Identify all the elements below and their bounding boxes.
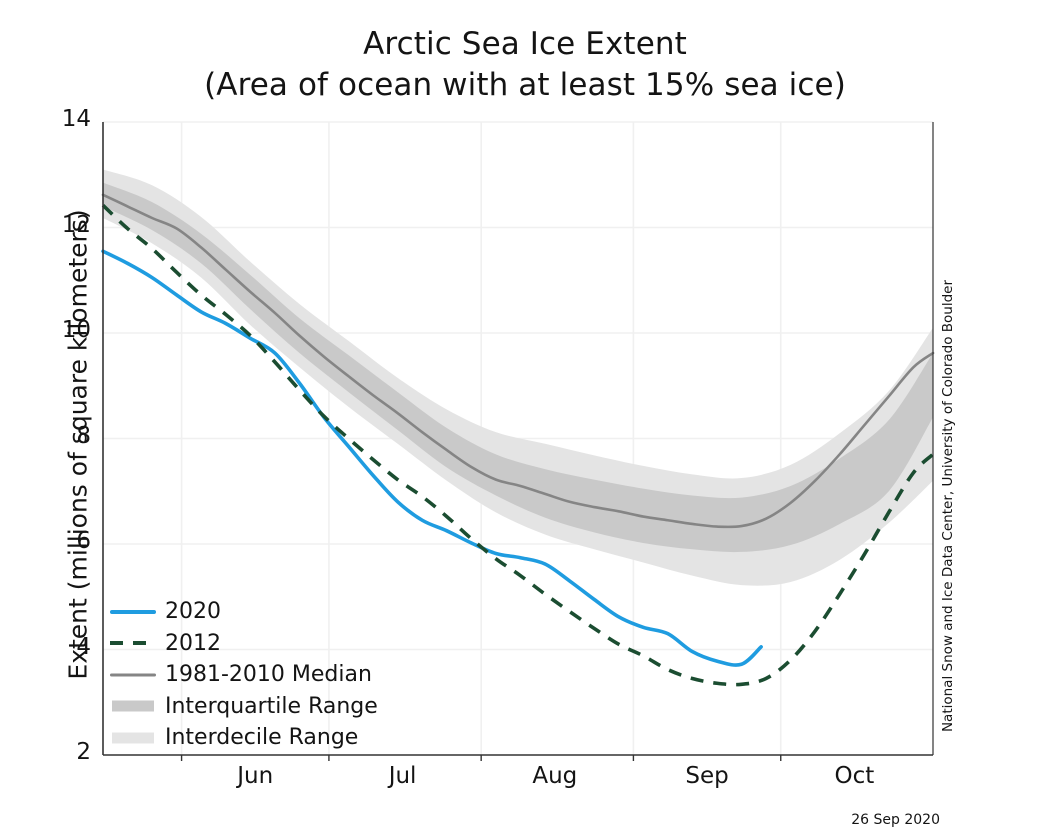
legend-item-label: 2012 — [165, 631, 221, 656]
legend-item-label: 1981-2010 Median — [165, 662, 372, 687]
chart-figure: Arctic Sea Ice Extent (Area of ocean wit… — [0, 0, 1050, 840]
chart-legend: 202020121981-2010 MedianInterquartile Ra… — [110, 596, 378, 754]
y-tick-label: 12 — [47, 212, 91, 238]
legend-item-1981-2010-median[interactable]: 1981-2010 Median — [110, 659, 378, 691]
legend-item-label: Interquartile Range — [165, 694, 378, 719]
y-tick-label: 2 — [47, 739, 91, 765]
y-tick-label: 6 — [47, 528, 91, 554]
legend-item-label: Interdecile Range — [165, 725, 358, 750]
date-stamp: 26 Sep 2020 — [750, 812, 940, 828]
legend-item-interquartile-range[interactable]: Interquartile Range — [110, 691, 378, 723]
y-tick-label: 10 — [47, 317, 91, 343]
legend-line-swatch — [110, 641, 156, 645]
x-tick-label-jul: Jul — [343, 763, 463, 789]
x-tick-label-jun: Jun — [195, 763, 315, 789]
y-tick-label: 14 — [47, 106, 91, 132]
x-tick-label-oct: Oct — [794, 763, 914, 789]
legend-line-swatch — [110, 610, 156, 614]
x-tick-label-aug: Aug — [495, 763, 615, 789]
credit-text: National Snow and Ice Data Center, Unive… — [940, 246, 956, 766]
x-tick-label-sep: Sep — [647, 763, 767, 789]
y-tick-label: 8 — [47, 423, 91, 449]
legend-band-swatch — [112, 732, 154, 743]
legend-swatch-icon — [110, 633, 156, 653]
legend-swatch-icon — [110, 696, 156, 716]
legend-item-label: 2020 — [165, 599, 221, 624]
y-tick-label: 4 — [47, 634, 91, 660]
legend-line-swatch — [110, 673, 156, 676]
legend-band-swatch — [112, 701, 154, 712]
legend-item-interdecile-range[interactable]: Interdecile Range — [110, 722, 378, 754]
legend-item-2020[interactable]: 2020 — [110, 596, 378, 628]
legend-swatch-icon — [110, 728, 156, 748]
legend-swatch-icon — [110, 665, 156, 685]
legend-swatch-icon — [110, 602, 156, 622]
legend-item-2012[interactable]: 2012 — [110, 628, 378, 660]
